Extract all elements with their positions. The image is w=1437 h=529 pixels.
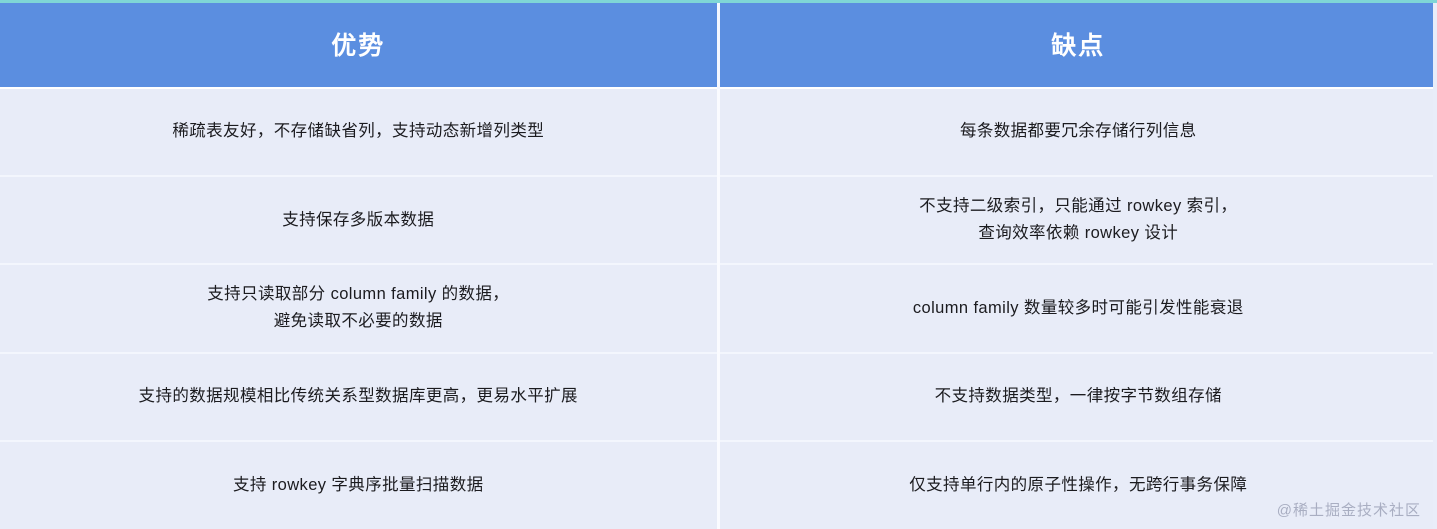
cell-cons: column family 数量较多时可能引发性能衰退	[718, 264, 1437, 352]
cell-text-line: column family 数量较多时可能引发性能衰退	[748, 295, 1410, 322]
cell-cons: 不支持二级索引，只能通过 rowkey 索引， 查询效率依赖 rowkey 设计	[718, 176, 1437, 264]
table-row: 支持保存多版本数据 不支持二级索引，只能通过 rowkey 索引， 查询效率依赖…	[0, 176, 1437, 264]
table-header: 优势 缺点	[0, 0, 1437, 88]
comparison-table-screenshot: 优势 缺点 稀疏表友好，不存储缺省列，支持动态新增列类型 每条数据都要冗余存储行…	[0, 0, 1437, 529]
cell-text-line: 不支持二级索引，只能通过 rowkey 索引，	[748, 193, 1410, 220]
cell-text-line: 支持的数据规模相比传统关系型数据库更高，更易水平扩展	[28, 383, 689, 410]
table-row: 稀疏表友好，不存储缺省列，支持动态新增列类型 每条数据都要冗余存储行列信息	[0, 88, 1437, 176]
cell-text-line: 支持 rowkey 字典序批量扫描数据	[28, 472, 689, 499]
cell-pros: 支持保存多版本数据	[0, 176, 718, 264]
table-row: 支持的数据规模相比传统关系型数据库更高，更易水平扩展 不支持数据类型，一律按字节…	[0, 353, 1437, 441]
cell-cons: 不支持数据类型，一律按字节数组存储	[718, 353, 1437, 441]
cell-text-line: 避免读取不必要的数据	[28, 308, 689, 335]
cell-text-line: 支持只读取部分 column family 的数据，	[28, 281, 689, 308]
cell-pros: 支持的数据规模相比传统关系型数据库更高，更易水平扩展	[0, 353, 718, 441]
cell-text-line: 稀疏表友好，不存储缺省列，支持动态新增列类型	[28, 118, 689, 145]
cell-pros: 支持只读取部分 column family 的数据， 避免读取不必要的数据	[0, 264, 718, 352]
top-edge-artifact	[0, 0, 1437, 3]
cell-text-line: 仅支持单行内的原子性操作，无跨行事务保障	[748, 472, 1410, 499]
cell-pros: 稀疏表友好，不存储缺省列，支持动态新增列类型	[0, 88, 718, 176]
table-row: 支持 rowkey 字典序批量扫描数据 仅支持单行内的原子性操作，无跨行事务保障	[0, 441, 1437, 529]
cell-pros: 支持 rowkey 字典序批量扫描数据	[0, 441, 718, 529]
pros-cons-table: 优势 缺点 稀疏表友好，不存储缺省列，支持动态新增列类型 每条数据都要冗余存储行…	[0, 0, 1437, 529]
table-body: 稀疏表友好，不存储缺省列，支持动态新增列类型 每条数据都要冗余存储行列信息 支持…	[0, 88, 1437, 529]
cell-text-line: 查询效率依赖 rowkey 设计	[748, 220, 1410, 247]
watermark: @稀土掘金技术社区	[1277, 499, 1421, 520]
cell-text-line: 支持保存多版本数据	[28, 207, 689, 234]
cell-cons: 每条数据都要冗余存储行列信息	[718, 88, 1437, 176]
cell-text-line: 每条数据都要冗余存储行列信息	[748, 118, 1410, 145]
column-header-pros: 优势	[0, 0, 718, 88]
right-edge-border	[1433, 0, 1437, 529]
table-header-row: 优势 缺点	[0, 0, 1437, 88]
table-row: 支持只读取部分 column family 的数据， 避免读取不必要的数据 co…	[0, 264, 1437, 352]
cell-text-line: 不支持数据类型，一律按字节数组存储	[748, 383, 1410, 410]
column-header-cons: 缺点	[718, 0, 1437, 88]
